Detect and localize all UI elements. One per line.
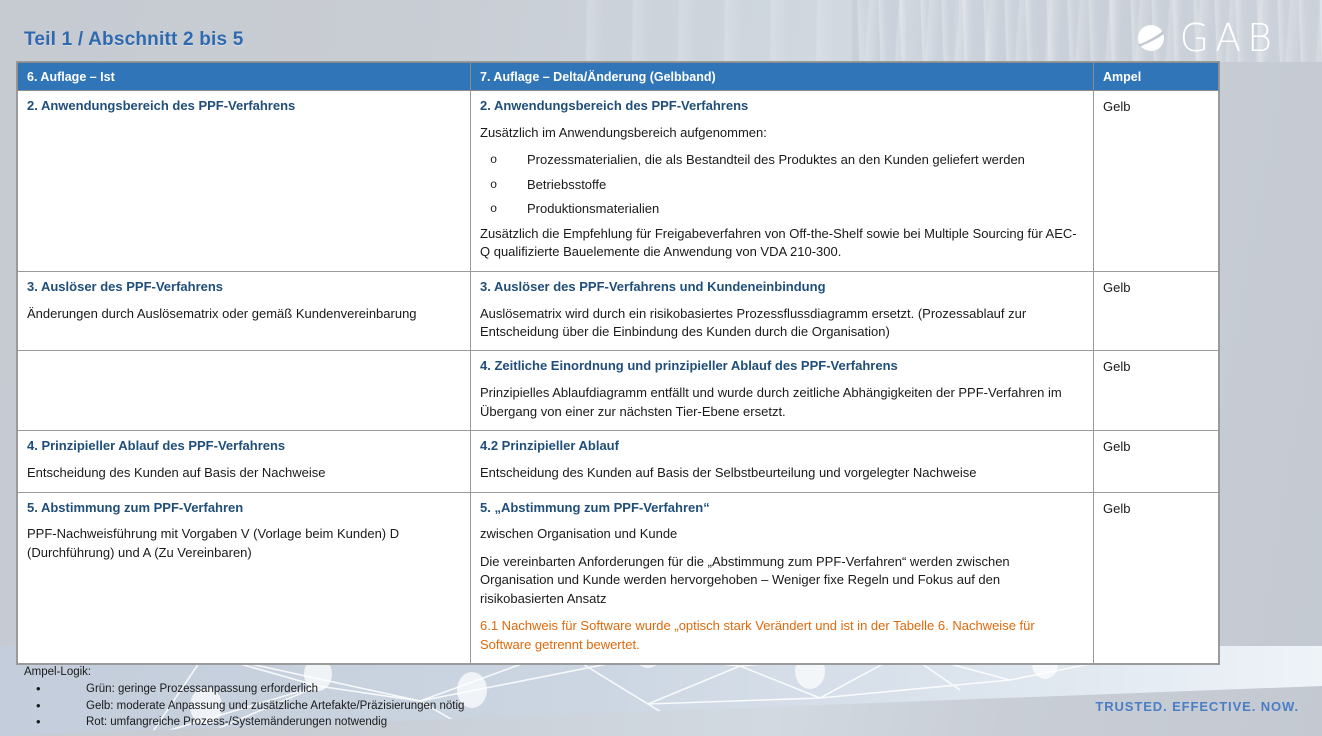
cell-heading: 2. Anwendungsbereich des PPF-Verfahrens [27,98,461,115]
table-row: 3. Auslöser des PPF-Verfahrens Änderunge… [18,271,1219,351]
list-item: Betriebsstoffe [480,176,1084,194]
legend-title: Ampel-Logik: [24,665,644,680]
legend-item-rot: Rot: umfangreiche Prozess-/Systemänderun… [24,714,644,730]
status-badge: Gelb [1103,99,1130,114]
table-row: 4. Prinzipieller Ablauf des PPF-Verfahre… [18,431,1219,492]
cell-text-highlighted: 6.1 Nachweis für Software wurde „optisch… [480,617,1084,654]
legend-list: Grün: geringe Prozessanpassung erforderl… [24,681,644,730]
table-row: 5. Abstimmung zum PPF-Verfahren PPF-Nach… [18,492,1219,664]
cell-right: 3. Auslöser des PPF-Verfahrens und Kunde… [471,271,1094,351]
legend-item-gelb: Gelb: moderate Anpassung und zusätzliche… [24,698,644,714]
comparison-table-wrapper: 6. Auflage – Ist 7. Auflage – Delta/Ände… [17,62,1218,664]
cell-text: Änderungen durch Auslösematrix oder gemä… [27,305,461,323]
gab-mark-icon [1135,22,1167,54]
cell-right: 4. Zeitliche Einordnung und prinzipielle… [471,351,1094,431]
cell-ampel: Gelb [1094,271,1219,351]
table-header-row: 6. Auflage – Ist 7. Auflage – Delta/Ände… [18,63,1219,91]
cell-left: 4. Prinzipieller Ablauf des PPF-Verfahre… [18,431,471,492]
cell-heading: 2. Anwendungsbereich des PPF-Verfahrens [480,98,1084,115]
cell-text: PPF-Nachweisführung mit Vorgaben V (Vorl… [27,525,461,562]
slide-canvas: GAB Teil 1 / Abschnitt 2 bis 5 6. Auflag… [0,0,1322,736]
column-header-auflage7: 7. Auflage – Delta/Änderung (Gelbband) [471,63,1094,91]
cell-heading: 4.2 Prinzipieller Ablauf [480,438,1084,455]
column-header-auflage6: 6. Auflage – Ist [18,63,471,91]
cell-outro-text: Zusätzlich die Empfehlung für Freigabeve… [480,225,1084,262]
cell-ampel: Gelb [1094,431,1219,492]
status-badge: Gelb [1103,439,1130,454]
cell-text: Entscheidung des Kunden auf Basis der Se… [480,464,1084,482]
cell-ampel: Gelb [1094,351,1219,431]
legend-item-gruen: Grün: geringe Prozessanpassung erforderl… [24,681,644,697]
cell-text: Prinzipielles Ablaufdiagramm entfällt un… [480,384,1084,421]
cell-text: Die vereinbarten Anforderungen für die „… [480,553,1084,608]
cell-right: 5. „Abstimmung zum PPF-Verfahren“ zwisch… [471,492,1094,664]
cell-left-empty [18,351,471,431]
cell-heading: 4. Zeitliche Einordnung und prinzipielle… [480,358,1084,375]
cell-text: zwischen Organisation und Kunde [480,525,1084,543]
cell-left: 3. Auslöser des PPF-Verfahrens Änderunge… [18,271,471,351]
cell-heading: 4. Prinzipieller Ablauf des PPF-Verfahre… [27,438,461,455]
cell-heading: 5. „Abstimmung zum PPF-Verfahren“ [480,500,1084,517]
cell-heading: 3. Auslöser des PPF-Verfahrens [27,279,461,296]
cell-bullet-list: Prozessmaterialien, die als Bestandteil … [480,151,1084,218]
cell-ampel: Gelb [1094,91,1219,272]
column-header-ampel: Ampel [1094,63,1219,91]
status-badge: Gelb [1103,501,1130,516]
page-title: Teil 1 / Abschnitt 2 bis 5 [24,29,244,51]
gab-logo: GAB [1135,19,1278,57]
cell-right: 4.2 Prinzipieller Ablauf Entscheidung de… [471,431,1094,492]
brand-tagline: TRUSTED. EFFECTIVE. NOW. [1095,699,1299,714]
cell-left: 5. Abstimmung zum PPF-Verfahren PPF-Nach… [18,492,471,664]
gab-wordmark: GAB [1180,19,1278,57]
cell-right: 2. Anwendungsbereich des PPF-Verfahrens … [471,91,1094,272]
status-badge: Gelb [1103,359,1130,374]
cell-left: 2. Anwendungsbereich des PPF-Verfahrens [18,91,471,272]
cell-heading: 5. Abstimmung zum PPF-Verfahren [27,500,461,517]
list-item: Prozessmaterialien, die als Bestandteil … [480,151,1084,169]
table-row: 2. Anwendungsbereich des PPF-Verfahrens … [18,91,1219,272]
cell-text: Entscheidung des Kunden auf Basis der Na… [27,464,461,482]
table-row: 4. Zeitliche Einordnung und prinzipielle… [18,351,1219,431]
cell-heading: 3. Auslöser des PPF-Verfahrens und Kunde… [480,279,1084,296]
comparison-table: 6. Auflage – Ist 7. Auflage – Delta/Ände… [17,62,1219,664]
cell-text: Auslösematrix wird durch ein risikobasie… [480,305,1084,342]
status-badge: Gelb [1103,280,1130,295]
cell-intro-text: Zusätzlich im Anwendungsbereich aufgenom… [480,124,1084,142]
list-item: Produktionsmaterialien [480,200,1084,218]
ampel-legend: Ampel-Logik: Grün: geringe Prozessanpass… [24,665,644,730]
cell-ampel: Gelb [1094,492,1219,664]
